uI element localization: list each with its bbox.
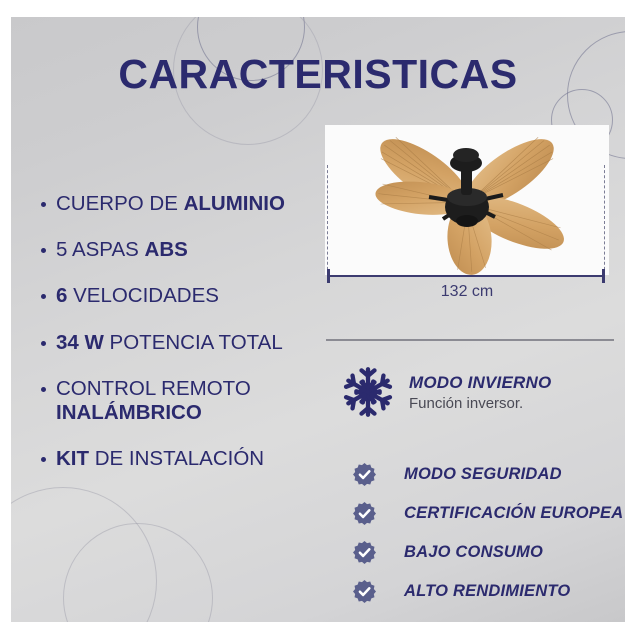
section-divider <box>326 339 614 341</box>
feature-label: 5 ASPAS ABS <box>56 238 316 262</box>
feature-label: KIT DE INSTALACIÓN <box>56 447 316 471</box>
feature-item: 34 W POTENCIA TOTAL <box>41 331 316 355</box>
winter-mode-block: MODO INVIERNO Función inversor. <box>341 365 551 419</box>
ceiling-fan-image <box>325 125 609 275</box>
feature-list: CUERPO DE ALUMINIO5 ASPAS ABS6 VELOCIDAD… <box>41 192 316 493</box>
checklist: MODO SEGURIDADCERTIFICACIÓN EUROPEABAJO … <box>353 457 618 613</box>
check-badge-icon <box>353 580 376 603</box>
bullet-dot <box>41 248 46 253</box>
checklist-label: CERTIFICACIÓN EUROPEA <box>404 504 623 523</box>
checklist-label: MODO SEGURIDAD <box>404 465 562 484</box>
checklist-item: ALTO RENDIMIENTO <box>353 574 618 609</box>
bullet-dot <box>41 202 46 207</box>
feature-label: CUERPO DE ALUMINIO <box>56 192 316 216</box>
checklist-label: BAJO CONSUMO <box>404 543 543 562</box>
feature-item: KIT DE INSTALACIÓN <box>41 447 316 471</box>
check-badge-icon <box>353 502 376 525</box>
feature-label: 6 VELOCIDADES <box>56 284 316 308</box>
snowflake-icon <box>341 365 395 419</box>
decorative-circle <box>11 487 157 622</box>
feature-item: CUERPO DE ALUMINIO <box>41 192 316 216</box>
check-badge-icon <box>353 463 376 486</box>
feature-item: 6 VELOCIDADES <box>41 284 316 308</box>
dimension-line <box>327 275 605 277</box>
feature-item: CONTROL REMOTOINALÁMBRICO <box>41 377 316 425</box>
checklist-item: BAJO CONSUMO <box>353 535 618 570</box>
infographic-canvas: CARACTERISTICAS CUERPO DE ALUMINIO5 ASPA… <box>11 17 625 622</box>
bullet-dot <box>41 457 46 462</box>
checklist-item: MODO SEGURIDAD <box>353 457 618 492</box>
bullet-dot <box>41 294 46 299</box>
product-image-block: 132 cm <box>317 125 617 320</box>
winter-mode-subtitle: Función inversor. <box>409 395 551 412</box>
checklist-item: CERTIFICACIÓN EUROPEA <box>353 496 618 531</box>
feature-label: 34 W POTENCIA TOTAL <box>56 331 316 355</box>
dimension-guide-left <box>327 165 328 275</box>
checklist-label: ALTO RENDIMIENTO <box>404 582 570 601</box>
page-title: CARACTERISTICAS <box>11 51 625 98</box>
check-badge-icon <box>353 541 376 564</box>
winter-mode-title: MODO INVIERNO <box>409 373 551 393</box>
bullet-dot <box>41 387 46 392</box>
bullet-dot <box>41 341 46 346</box>
dimension-guide-right <box>604 165 605 275</box>
feature-label: CONTROL REMOTOINALÁMBRICO <box>56 377 316 425</box>
feature-item: 5 ASPAS ABS <box>41 238 316 262</box>
dimension-label: 132 cm <box>317 283 617 301</box>
